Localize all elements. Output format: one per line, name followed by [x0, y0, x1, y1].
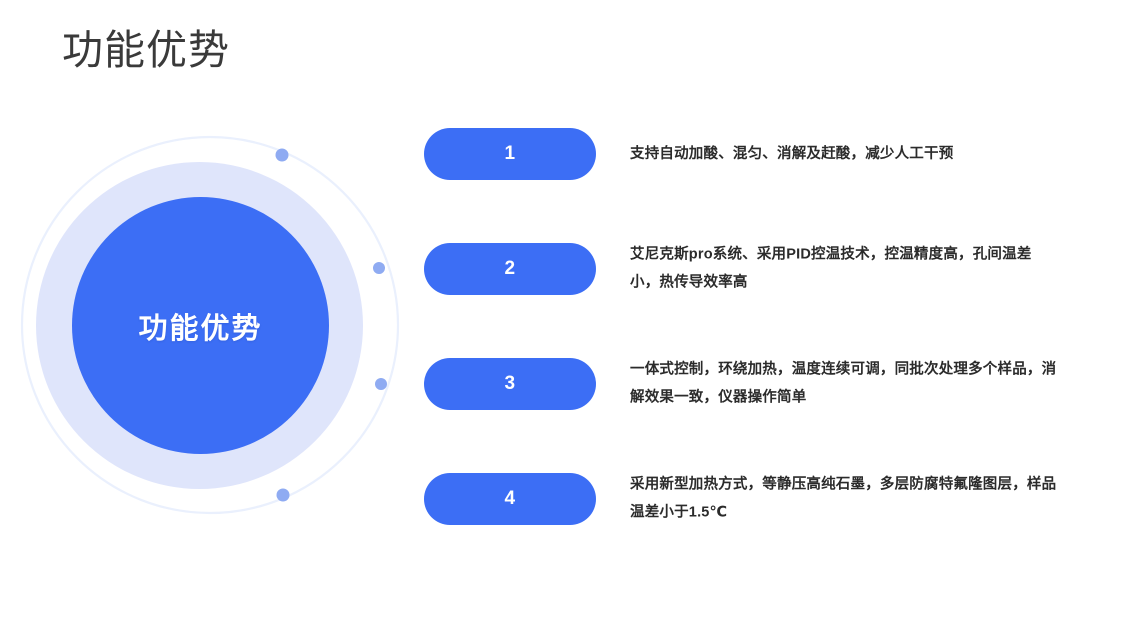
feature-text-1: 支持自动加酸、混匀、消解及赶酸，减少人工干预 [630, 140, 1060, 168]
center-badge-label: 功能优势 [138, 305, 262, 347]
list-item: 3 一体式控制，环绕加热，温度连续可调，同批次处理多个样品，消解效果一致，仪器操… [424, 358, 1094, 410]
feature-number-badge-2[interactable]: 2 [424, 243, 596, 295]
feature-list: 1 支持自动加酸、混匀、消解及赶酸，减少人工干预 2 艾尼克斯pro系统、采用P… [424, 128, 1094, 525]
circle-graphic: 功能优势 [10, 128, 410, 528]
list-item: 1 支持自动加酸、混匀、消解及赶酸，减少人工干预 [424, 128, 1094, 180]
list-item: 4 采用新型加热方式，等静压高纯石墨，多层防腐特氟隆图层，样品温差小于1.5℃ [424, 473, 1094, 525]
list-item: 2 艾尼克斯pro系统、采用PID控温技术，控温精度高，孔间温差小，热传导效率高 [424, 243, 1094, 295]
page-title: 功能优势 [62, 25, 230, 76]
feature-number-badge-4[interactable]: 4 [424, 473, 596, 525]
feature-text-4: 采用新型加热方式，等静压高纯石墨，多层防腐特氟隆图层，样品温差小于1.5℃ [630, 471, 1060, 528]
center-badge: 功能优势 [72, 197, 329, 454]
feature-text-2: 艾尼克斯pro系统、采用PID控温技术，控温精度高，孔间温差小，热传导效率高 [630, 241, 1060, 298]
slide-root: 功能优势 功能优势 1 支持自动加酸、混匀、消解及赶酸，减少人工干预 2 艾尼克… [0, 0, 1130, 636]
feature-number-badge-1[interactable]: 1 [424, 128, 596, 180]
feature-number-badge-3[interactable]: 3 [424, 358, 596, 410]
feature-text-3: 一体式控制，环绕加热，温度连续可调，同批次处理多个样品，消解效果一致，仪器操作简… [630, 356, 1060, 413]
